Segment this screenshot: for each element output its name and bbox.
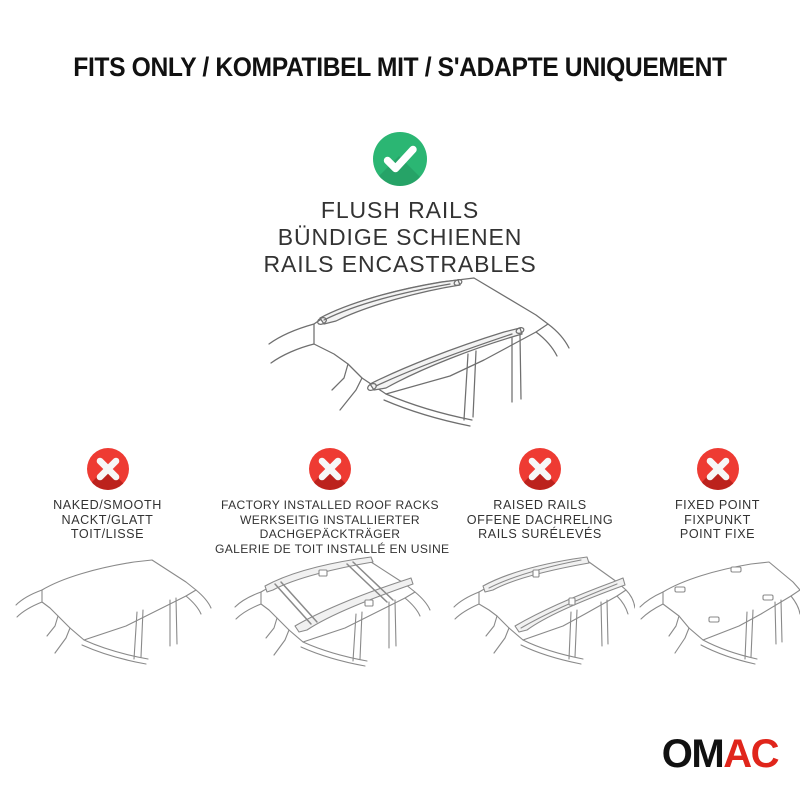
fixed-point-label-group: FIXED POINT FIXPUNKT POINT FIXE [635, 498, 800, 542]
naked-smooth-badge-wrap [0, 448, 215, 490]
x-circle-icon [697, 448, 739, 490]
check-circle-icon [373, 132, 427, 186]
x-circle-icon [87, 448, 129, 490]
fixed-point-label-fr: POINT FIXE [635, 527, 800, 542]
factory-racks-label-de-1: WERKSEITIG INSTALLIERTER [215, 513, 445, 528]
factory-racks-label-de-2: DACHGEPÄCKTRÄGER [215, 527, 445, 542]
approved-badge-wrap [0, 132, 800, 186]
raised-rails-label-fr: RAILS SURÉLEVÉS [445, 527, 635, 542]
omac-brand-logo: OMAC [662, 734, 778, 774]
raised-rails-label-en: RAISED RAILS [445, 498, 635, 513]
factory-roof-racks-illustration: car-roof-factory-roof-racks-illustration [215, 554, 445, 684]
naked-smooth-roof-illustration: car-roof-naked-smooth-illustration [0, 554, 215, 684]
approved-label-en: FLUSH RAILS [0, 197, 800, 224]
page-title: FITS ONLY / KOMPATIBEL MIT / S'ADAPTE UN… [28, 52, 772, 83]
flush-rails-roof-illustration: car-roof-with-flush-rails-illustration [236, 272, 576, 432]
incompatible-type-naked-smooth: NAKED/SMOOTH NACKT/GLATT TOIT/LISSE car-… [0, 448, 215, 698]
incompatible-type-raised-rails: RAISED RAILS OFFENE DACHRELING RAILS SUR… [445, 448, 635, 698]
incompatible-type-fixed-point: FIXED POINT FIXPUNKT POINT FIXE car-roof… [635, 448, 800, 698]
naked-smooth-label-fr: TOIT/LISSE [0, 527, 215, 542]
fixed-point-label-en: FIXED POINT [635, 498, 800, 513]
logo-text-red: AC [723, 732, 778, 776]
approved-label-group: FLUSH RAILS BÜNDIGE SCHIENEN RAILS ENCAS… [0, 197, 800, 278]
approved-label-de: BÜNDIGE SCHIENEN [0, 224, 800, 251]
raised-rails-label-group: RAISED RAILS OFFENE DACHRELING RAILS SUR… [445, 498, 635, 542]
header-banner: FITS ONLY / KOMPATIBEL MIT / S'ADAPTE UN… [0, 0, 800, 104]
naked-smooth-label-group: NAKED/SMOOTH NACKT/GLATT TOIT/LISSE [0, 498, 215, 542]
factory-racks-badge-wrap [215, 448, 445, 490]
incompatible-type-factory-roof-racks: FACTORY INSTALLED ROOF RACKS WERKSEITIG … [215, 448, 445, 698]
raised-rails-badge-wrap [445, 448, 635, 490]
x-circle-icon [309, 448, 351, 490]
factory-racks-label-group: FACTORY INSTALLED ROOF RACKS WERKSEITIG … [215, 498, 445, 556]
raised-rails-roof-illustration: car-roof-raised-rails-illustration [445, 554, 635, 684]
x-circle-icon [519, 448, 561, 490]
factory-racks-label-en: FACTORY INSTALLED ROOF RACKS [215, 498, 445, 513]
logo-text-dark: OM [662, 732, 723, 776]
naked-smooth-label-en: NAKED/SMOOTH [0, 498, 215, 513]
raised-rails-label-de: OFFENE DACHRELING [445, 513, 635, 528]
naked-smooth-label-de: NACKT/GLATT [0, 513, 215, 528]
fixed-point-badge-wrap [635, 448, 800, 490]
fixed-point-label-de: FIXPUNKT [635, 513, 800, 528]
incompatible-types-row: NAKED/SMOOTH NACKT/GLATT TOIT/LISSE car-… [0, 448, 800, 698]
approved-type-block: FLUSH RAILS BÜNDIGE SCHIENEN RAILS ENCAS… [0, 132, 800, 278]
fixed-point-roof-illustration: car-roof-fixed-point-illustration [635, 554, 800, 684]
